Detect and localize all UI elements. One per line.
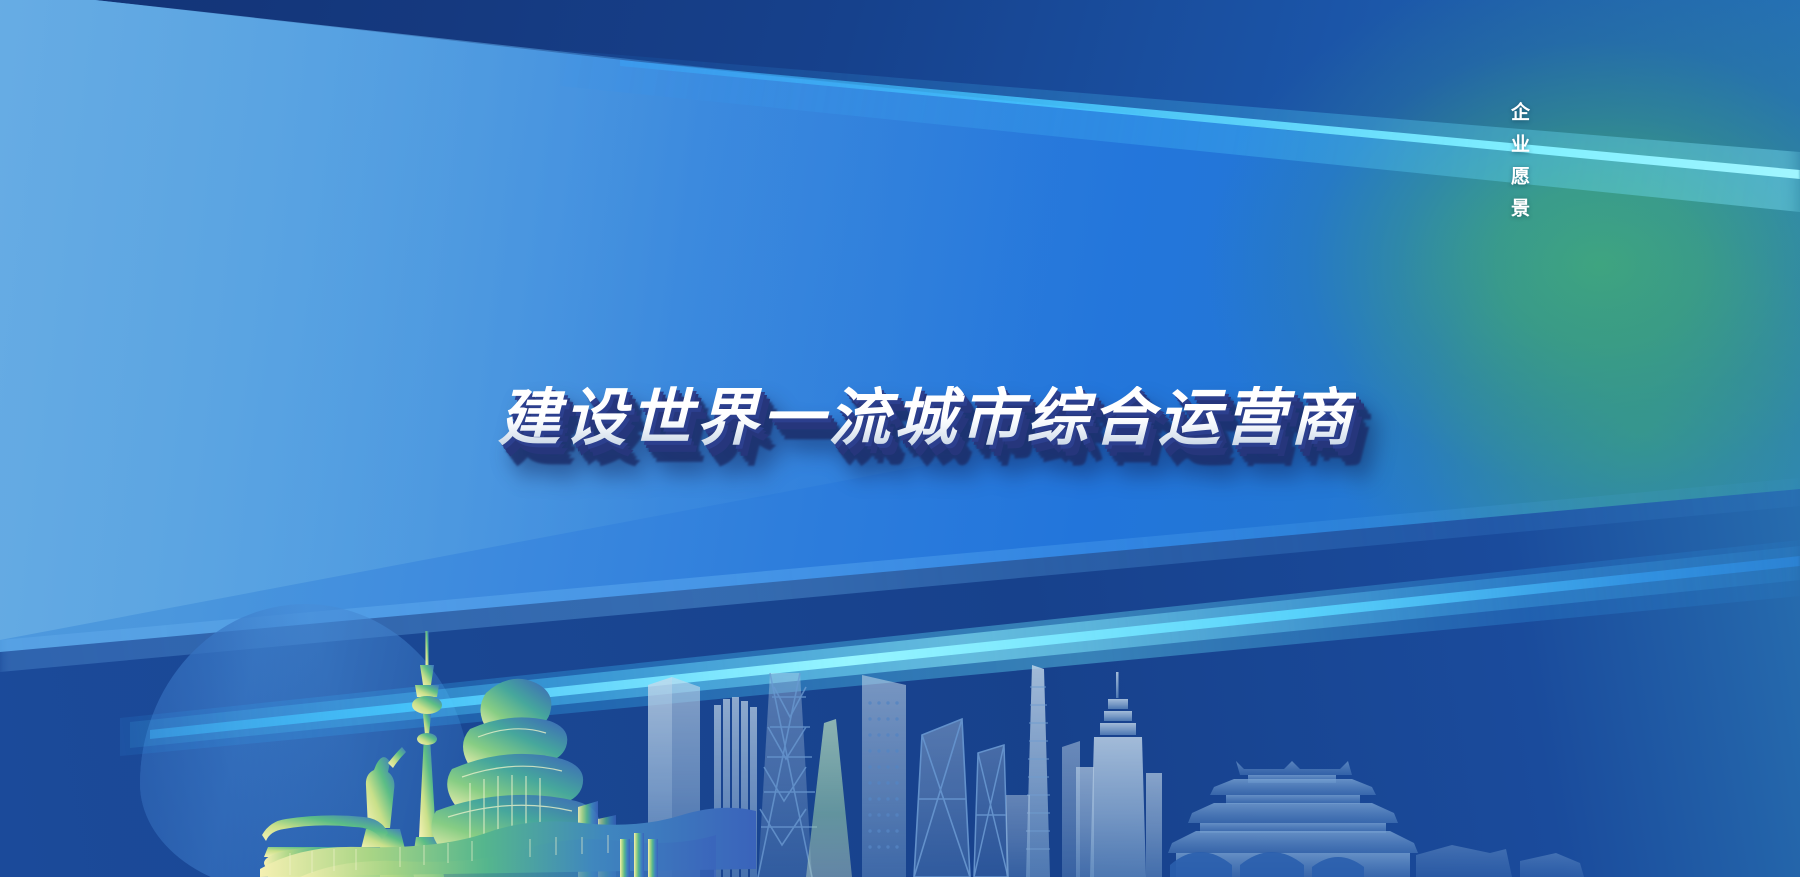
page-title: 建设世界一流城市综合运营商 [498,386,1356,451]
section-label-vertical: 企业愿景 [1494,102,1528,230]
slide-canvas: 企业愿景 建设世界一流城市综合运营商 [0,0,1800,877]
